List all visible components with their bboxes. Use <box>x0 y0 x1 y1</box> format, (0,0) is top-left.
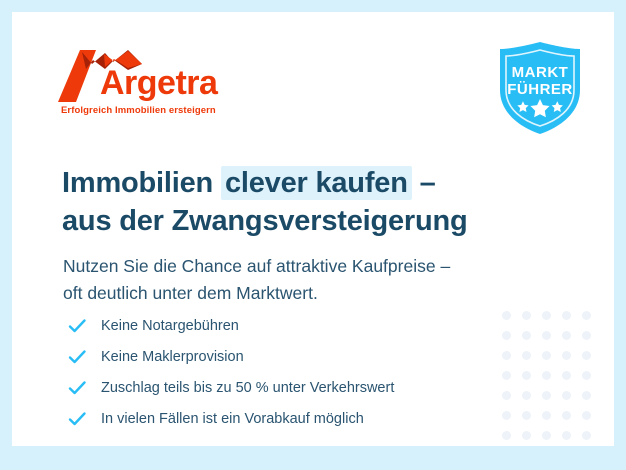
decorative-dot <box>582 411 591 420</box>
decorative-dot <box>502 411 511 420</box>
benefits-list: Keine NotargebührenKeine Maklerprovision… <box>67 310 394 434</box>
list-item: In vielen Fällen ist ein Vorabkauf mögli… <box>67 403 394 434</box>
decorative-dot <box>562 411 571 420</box>
decorative-dot <box>562 391 571 400</box>
benefit-label: In vielen Fällen ist ein Vorabkauf mögli… <box>101 411 364 427</box>
decorative-dot <box>522 351 531 360</box>
headline-part1: Immobilien <box>62 167 221 199</box>
decorative-dot <box>522 431 531 440</box>
decorative-dot <box>562 431 571 440</box>
decorative-dot <box>542 371 551 380</box>
decorative-dot <box>582 311 591 320</box>
decorative-dot <box>562 311 571 320</box>
decorative-dot <box>522 311 531 320</box>
headline-highlight: clever kaufen <box>221 166 412 200</box>
page-subtitle: Nutzen Sie die Chance auf attraktive Kau… <box>63 253 450 307</box>
decorative-dot <box>582 331 591 340</box>
decorative-dot <box>542 391 551 400</box>
decorative-dot <box>562 331 571 340</box>
check-icon <box>67 378 87 398</box>
decorative-dot <box>542 351 551 360</box>
decorative-dot <box>522 331 531 340</box>
decorative-dot <box>522 391 531 400</box>
decorative-dot <box>562 351 571 360</box>
decorative-dot <box>582 351 591 360</box>
badge-line2-text: FÜHRER <box>507 81 573 98</box>
decorative-dot <box>542 431 551 440</box>
check-icon <box>67 347 87 367</box>
list-item: Keine Maklerprovision <box>67 341 394 372</box>
decorative-dot <box>502 431 511 440</box>
decorative-dot <box>542 411 551 420</box>
logo-wordmark: Argetra <box>100 66 217 100</box>
decorative-dot <box>502 311 511 320</box>
decorative-dot <box>502 371 511 380</box>
decorative-dot <box>582 391 591 400</box>
decorative-dot <box>502 391 511 400</box>
decorative-dot <box>522 371 531 380</box>
decorative-dot <box>562 371 571 380</box>
decorative-dot <box>542 311 551 320</box>
benefit-label: Keine Maklerprovision <box>101 349 244 365</box>
list-item: Keine Notargebühren <box>67 310 394 341</box>
headline-line2: aus der Zwangsversteigerung <box>62 203 468 240</box>
decorative-dot <box>542 331 551 340</box>
argetra-logo[interactable]: Argetra Erfolgreich Immobilien ersteiger… <box>58 50 248 120</box>
decorative-dot <box>582 431 591 440</box>
decorative-dot <box>582 371 591 380</box>
check-icon <box>67 409 87 429</box>
benefit-label: Zuschlag teils bis zu 50 % unter Verkehr… <box>101 380 394 396</box>
benefit-label: Keine Notargebühren <box>101 318 239 334</box>
promo-card: Argetra Erfolgreich Immobilien ersteiger… <box>12 12 614 446</box>
decorative-dot <box>502 351 511 360</box>
market-leader-badge: MARKT FÜHRER <box>498 42 582 134</box>
check-icon <box>67 316 87 336</box>
headline-part2: – <box>412 167 436 199</box>
page-title: Immobilien clever kaufen – aus der Zwang… <box>62 165 468 239</box>
badge-line1-text: MARKT <box>512 64 569 81</box>
decorative-dot-grid <box>496 305 596 446</box>
logo-tagline: Erfolgreich Immobilien ersteigern <box>61 105 216 116</box>
subtitle-line1: Nutzen Sie die Chance auf attraktive Kau… <box>63 253 450 280</box>
list-item: Zuschlag teils bis zu 50 % unter Verkehr… <box>67 372 394 403</box>
decorative-dot <box>502 331 511 340</box>
subtitle-line2: oft deutlich unter dem Marktwert. <box>63 280 450 307</box>
decorative-dot <box>522 411 531 420</box>
